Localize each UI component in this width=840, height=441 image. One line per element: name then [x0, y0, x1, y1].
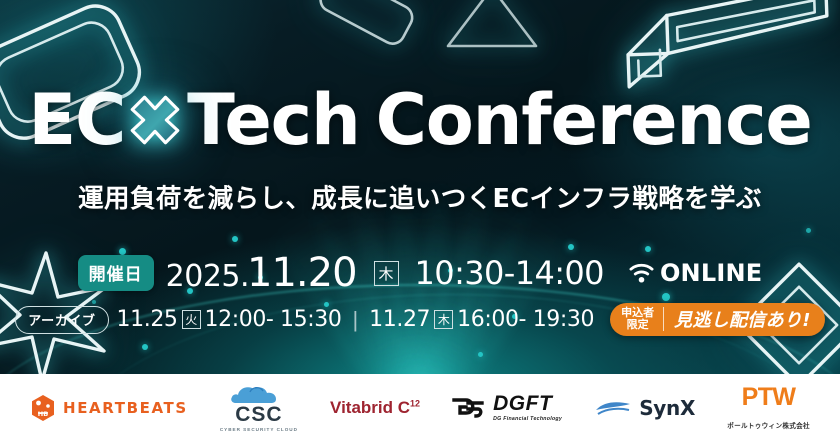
sponsor-name-heartbeats: HEARTBEATS: [63, 399, 188, 417]
sponsor-logo-heartbeats[interactable]: HB HEARTBEATS: [30, 394, 188, 422]
x-cross-icon: [127, 92, 183, 148]
sponsor-name-synx: SynX: [639, 396, 695, 420]
event-banner: EC Tech Conference 運用負荷を減らし、成長に追いつくECインフ…: [0, 0, 840, 441]
event-month-day: 11.20: [247, 250, 357, 296]
accent-dot: [478, 352, 483, 357]
archive-row: アーカイブ 11.25 火 12:00- 15:30 | 11.27 木 16:…: [0, 303, 840, 336]
replay-badge-label: 見逃し配信あり!: [664, 306, 811, 332]
accent-dot: [806, 228, 811, 233]
event-day-of-week: 木: [374, 261, 399, 286]
svg-text:HB: HB: [38, 410, 48, 418]
sponsor-name-dgft: DGFT: [493, 393, 552, 414]
accent-dot: [142, 344, 148, 350]
accent-dot: [232, 236, 238, 242]
archive-date-2: 11.27: [369, 307, 430, 332]
wifi-icon: [628, 262, 655, 284]
archive-dow-1: 火: [182, 310, 201, 329]
replay-availability-badge: 申込者 限定 見逃し配信あり!: [610, 303, 825, 336]
neon-small-rect-icon: [300, 0, 430, 64]
archive-date-1: 11.25: [117, 307, 178, 332]
sponsor-tagline-dgft: DG Financial Technology: [493, 416, 562, 422]
title-part-tech: Tech: [187, 88, 359, 152]
sponsor-logo-ptw[interactable]: PTW ポールトゥウィン株式会社: [727, 385, 810, 430]
title-part-ec: EC: [28, 88, 125, 152]
event-format: ONLINE: [628, 259, 762, 287]
event-format-label: ONLINE: [660, 259, 762, 287]
title-part-conference: Conference: [376, 88, 812, 152]
archive-dow-2: 木: [434, 310, 453, 329]
archive-separator: |: [352, 307, 358, 333]
neon-triangle-icon: [432, 0, 552, 70]
dgft-mark-icon: [452, 397, 486, 419]
csc-cloud-icon: [230, 384, 288, 404]
page-title: EC Tech Conference: [0, 88, 840, 152]
sponsor-logo-vitabrid[interactable]: Vitabrid C12: [330, 398, 420, 418]
event-year: 2025.: [166, 259, 249, 294]
sponsor-tagline-ptw: ポールトゥウィン株式会社: [727, 420, 810, 430]
sponsor-name-csc: CSC: [235, 404, 282, 425]
event-time: 10:30-14:00: [415, 254, 604, 292]
archive-session-1: 11.25 火 12:00- 15:30: [117, 307, 342, 332]
heartbeats-hexagon-icon: HB: [30, 394, 56, 422]
archive-session-2: 11.27 木 16:00- 19:30: [369, 307, 594, 332]
hero-background: EC Tech Conference 運用負荷を減らし、成長に追いつくECインフ…: [0, 0, 840, 374]
archive-time-2: 16:00- 19:30: [457, 307, 594, 332]
sponsor-logo-synx[interactable]: SynX: [594, 396, 695, 420]
sponsor-name-ptw: PTW: [742, 385, 796, 410]
sponsor-logo-bar: HB HEARTBEATS CSC CYBER SECURITY CLOUD V…: [0, 374, 840, 441]
main-event-row: 開催日 2025. 11.20 木 10:30-14:00 ONLINE: [0, 250, 840, 296]
sponsor-name-vitabrid: Vitabrid C12: [330, 398, 420, 418]
synx-wave-icon: [594, 398, 632, 418]
sponsor-logo-csc[interactable]: CSC CYBER SECURITY CLOUD: [220, 384, 298, 432]
status-badge-event-date: 開催日: [78, 255, 154, 291]
status-badge-archive: アーカイブ: [15, 306, 108, 334]
page-subtitle: 運用負荷を減らし、成長に追いつくECインフラ戦略を学ぶ: [0, 178, 840, 215]
replay-badge-qualifier: 申込者 限定: [621, 307, 664, 332]
sponsor-tagline-csc: CYBER SECURITY CLOUD: [220, 427, 298, 432]
sponsor-logo-dgft[interactable]: DGFT DG Financial Technology: [452, 393, 562, 422]
archive-time-1: 12:00- 15:30: [205, 307, 342, 332]
